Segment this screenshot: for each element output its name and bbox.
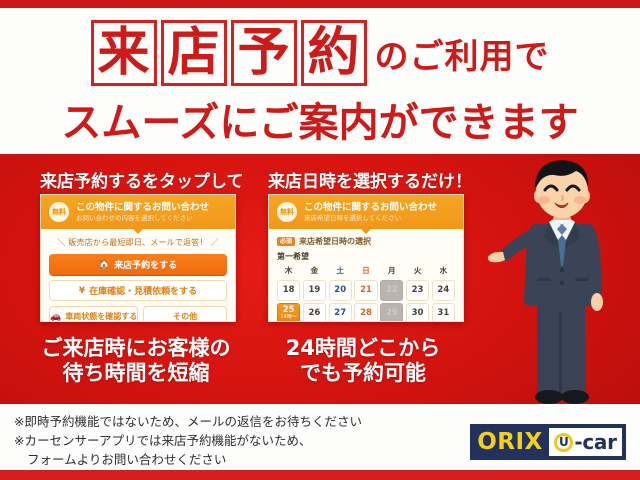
stock-quote-button[interactable]: ¥ 在庫確認・見積依頼をする [49, 280, 227, 301]
free-badge: 無料 [277, 202, 297, 222]
headline-row-1: 来 店 予 約 のご利用で [0, 16, 640, 90]
free-badge: 無料 [49, 202, 69, 222]
calendar-section-label: 必須 来店希望日時の選択 [277, 236, 455, 247]
calendar-body: 必須 来店希望日時の選択 第一希望 木 金 土 日 月 火 水 18 19 20… [269, 229, 463, 322]
date-cell[interactable]: 20 [329, 280, 352, 301]
orix-ucar-logo: ORIX U -car [470, 424, 626, 460]
required-badge: 必須 [277, 237, 295, 247]
inquiry-header-subtitle: お問い合わせの内容を選択してください [76, 214, 209, 222]
top-red-rule [0, 0, 640, 8]
reserve-visit-label: 来店予約をする [114, 258, 177, 271]
footer-notes: ※即時予約機能ではないため、メールの返信をお待ちください ※カーセンサーアプリで… [14, 412, 464, 469]
date-cell[interactable]: 24 [432, 280, 455, 301]
headline-block: 来 店 予 約 のご利用で スムーズにご案内ができます [0, 8, 640, 154]
date-cell[interactable]: 31 [432, 303, 455, 322]
car-icon: 🚗 [50, 312, 61, 322]
calendar-header-title: この物件に関するお問い合わせ [304, 202, 437, 214]
inquiry-button-stack: 🏠 来店予約をする ¥ 在庫確認・見積依頼をする 🚗 車両状態を確認する その他 [41, 254, 235, 322]
other-label: その他 [173, 311, 197, 322]
weekday-header: 月 [380, 265, 403, 277]
ucar-wordmark: U -car [549, 428, 622, 456]
date-cell[interactable]: 30 [406, 303, 429, 322]
kanji-box-4: 約 [301, 20, 367, 86]
date-cell-unavailable: 29 [380, 303, 403, 322]
other-button[interactable]: その他 [143, 306, 227, 322]
bottom-red-rule [0, 470, 640, 480]
calendar-header-subtitle: 来店希望日時を選択してください [304, 214, 437, 222]
calendar-screen-mockup: 無料 この物件に関するお問い合わせ 来店希望日時を選択してください 必須 来店希… [268, 194, 464, 322]
date-cell[interactable]: 19 [303, 280, 326, 301]
calendar-header-text: この物件に関するお問い合わせ 来店希望日時を選択してください [304, 202, 437, 222]
weekday-header: 水 [432, 265, 455, 277]
weekday-header: 土 [329, 265, 352, 277]
vehicle-condition-button[interactable]: 🚗 車両状態を確認する [49, 306, 138, 322]
calendar-section-title: 来店希望日時の選択 [299, 236, 371, 247]
ucar-u-circle-icon: U [554, 433, 573, 452]
orix-wordmark: ORIX [471, 425, 549, 459]
left-caption-line-1: ご来店時にお客様の [20, 336, 252, 361]
weekday-header: 火 [406, 265, 429, 277]
kanji-box-3: 予 [231, 20, 297, 86]
calendar-mock-header: 無料 この物件に関するお問い合わせ 来店希望日時を選択してください [269, 195, 463, 229]
left-caption-line-2: 待ち時間を短縮 [20, 361, 252, 386]
left-column-caption: ご来店時にお客様の 待ち時間を短縮 [20, 336, 252, 386]
kanji-box-2: 店 [161, 20, 227, 86]
weekday-header: 木 [277, 265, 300, 277]
footer-note-2: ※カーセンサーアプリでは来店予約機能がないため、 [14, 431, 464, 450]
inquiry-button-row: 🚗 車両状態を確認する その他 [49, 306, 227, 322]
date-cell[interactable]: 23 [406, 280, 429, 301]
footer-note-1: ※即時予約機能ではないため、メールの返信をお待ちください [14, 412, 464, 431]
reserve-visit-button[interactable]: 🏠 来店予約をする [49, 254, 227, 275]
kanji-box-group: 来 店 予 約 [91, 20, 367, 86]
header-notch [360, 228, 372, 234]
promo-banner: 来 店 予 約 のご利用で スムーズにご案内ができます 来店予約するをタップして… [0, 0, 640, 480]
date-cell[interactable]: 21 [354, 280, 377, 301]
weekday-header: 日 [354, 265, 377, 277]
date-cell[interactable]: 28 [354, 303, 377, 322]
preference-label: 第一希望 [277, 251, 455, 262]
right-column-caption: 24時間どこから でも予約可能 [258, 336, 468, 386]
date-cell-unavailable: 22 [380, 280, 403, 301]
headline-tail-text: のご利用で [375, 29, 550, 78]
kanji-box-1: 来 [91, 20, 157, 86]
stock-quote-label: 在庫確認・見積依頼をする [89, 284, 197, 297]
ucar-suffix-text: -car [574, 430, 616, 454]
header-notch [132, 228, 144, 234]
date-cell[interactable]: 18 [277, 280, 300, 301]
yen-icon: ¥ [79, 286, 85, 296]
inquiry-header-title: この物件に関するお問い合わせ [76, 202, 209, 214]
headline-row-2: スムーズにご案内ができます [0, 90, 640, 148]
salesman-illustration [487, 152, 637, 407]
selected-time: 14時～ [280, 315, 296, 320]
date-cell[interactable]: 26 [303, 303, 326, 322]
footer-note-3: フォームよりお問い合わせください [14, 450, 464, 469]
right-caption-line-1: 24時間どこから [258, 336, 468, 361]
right-column-title: 来店日時を選択するだけ！ [268, 167, 472, 192]
store-icon: 🏠 [99, 260, 110, 270]
left-column-title: 来店予約するをタップして [40, 167, 244, 192]
date-cell[interactable]: 27 [329, 303, 352, 322]
vehicle-condition-label: 車両状態を確認する [65, 311, 137, 322]
inquiry-screen-mockup: 無料 この物件に関するお問い合わせ お問い合わせの内容を選択してください ＼ 販… [40, 194, 236, 322]
inquiry-mock-header: 無料 この物件に関するお問い合わせ お問い合わせの内容を選択してください [41, 195, 235, 229]
calendar-grid: 木 金 土 日 月 火 水 18 19 20 21 22 23 24 25 [277, 265, 455, 322]
right-caption-line-2: でも予約可能 [258, 361, 468, 386]
weekday-header: 金 [303, 265, 326, 277]
date-cell-selected[interactable]: 25 14時～ [277, 303, 300, 322]
inquiry-header-text: この物件に関するお問い合わせ お問い合わせの内容を選択してください [76, 202, 209, 222]
